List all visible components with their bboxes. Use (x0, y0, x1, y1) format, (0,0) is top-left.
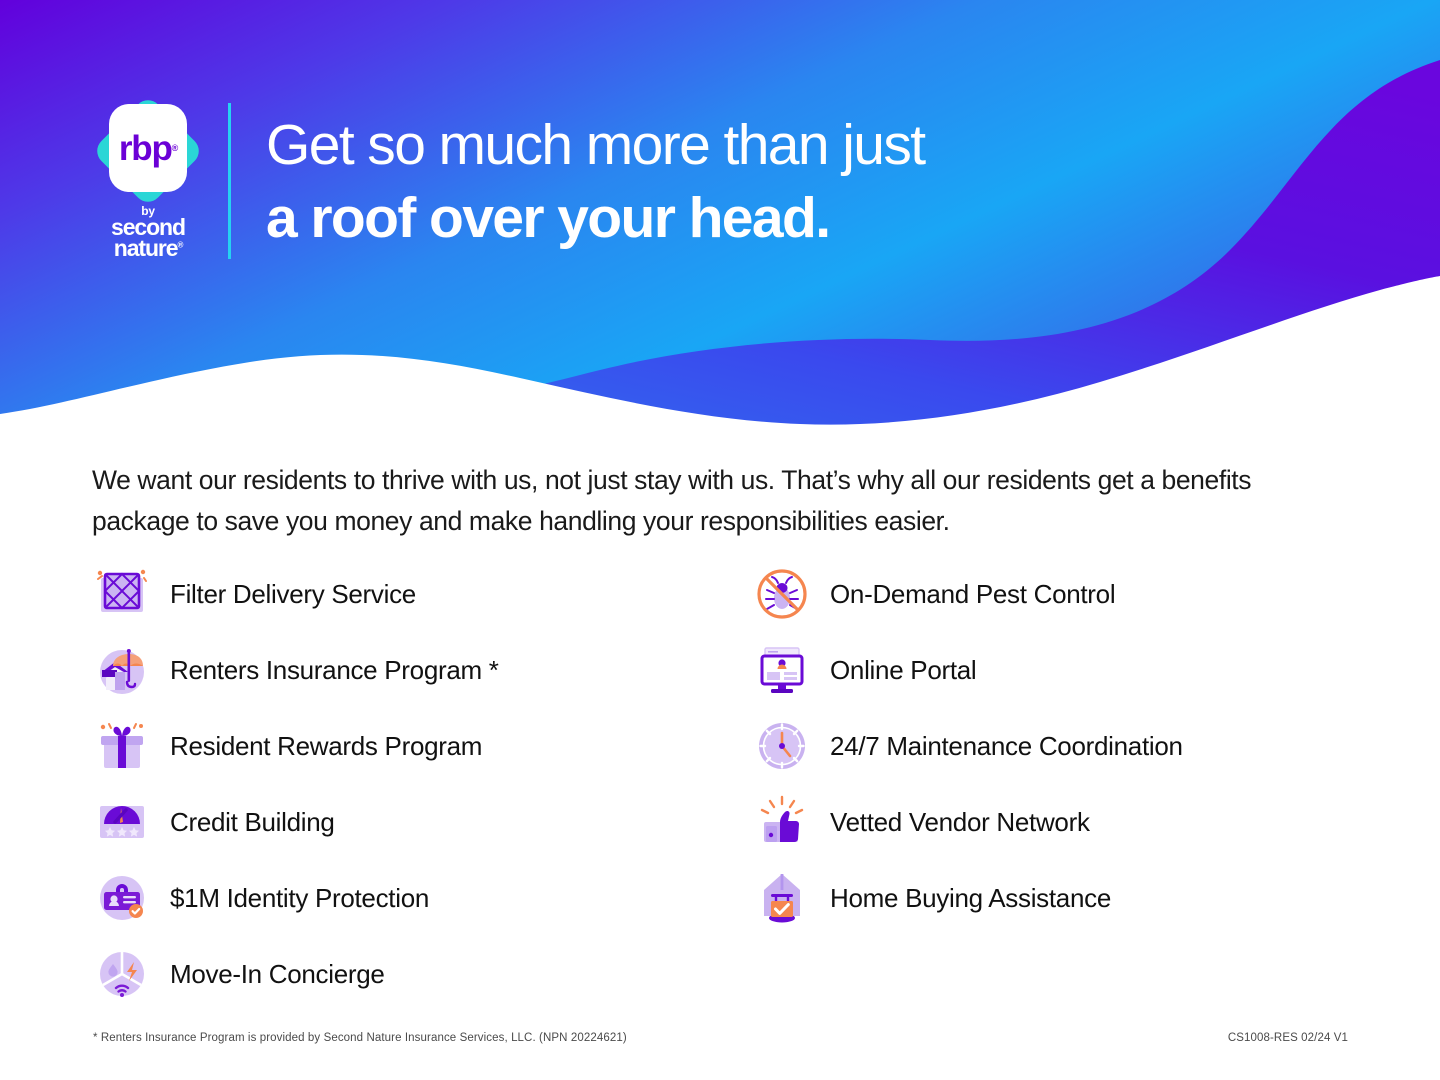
benefit-label: Resident Rewards Program (170, 731, 482, 762)
logo-rbp-label: rbp (119, 131, 172, 166)
logo-byline: by second nature® (88, 206, 208, 259)
logo-registered-icon: ® (172, 144, 177, 153)
benefit-row-online-portal: Online Portal (752, 632, 1352, 708)
thumbs-up-icon (752, 792, 812, 852)
credit-gauge-stars-icon (92, 792, 152, 852)
logo-nature-registered-icon: ® (177, 241, 182, 250)
document-code: CS1008-RES 02/24 V1 (1228, 1032, 1348, 1044)
benefit-row-resident-rewards-program: Resident Rewards Program (92, 708, 752, 784)
rbp-logo-mark: rbp® (95, 98, 201, 204)
header-banner: rbp® by second nature® Get so much more … (0, 0, 1440, 440)
air-filter-icon (92, 564, 152, 624)
benefit-label: Home Buying Assistance (830, 883, 1111, 914)
benefit-row-move-in-concierge: Move-In Concierge (92, 936, 752, 1012)
benefit-row-maintenance-coordination: 24/7 Maintenance Coordination (752, 708, 1352, 784)
headline-line-2: a roof over your head. (266, 182, 925, 254)
intro-paragraph: We want our residents to thrive with us,… (92, 460, 1317, 542)
rbp-logo: rbp® by second nature® (88, 98, 208, 258)
benefit-label: On-Demand Pest Control (830, 579, 1115, 610)
headline-line-1: Get so much more than just (266, 108, 925, 182)
benefits-column-right: On-Demand Pest Control Online Portal (752, 556, 1352, 1012)
benefits-column-left: Filter Delivery Service Renters Insuranc… (92, 556, 752, 1012)
page-headline: Get so much more than just a roof over y… (266, 108, 925, 254)
clock-icon (752, 716, 812, 776)
benefit-row-home-buying-assistance: Home Buying Assistance (752, 860, 1352, 936)
benefit-label: Credit Building (170, 807, 335, 838)
benefit-label: Online Portal (830, 655, 976, 686)
benefit-row-credit-building: Credit Building (92, 784, 752, 860)
utilities-water-power-wifi-icon (92, 944, 152, 1004)
benefit-label: Vetted Vendor Network (830, 807, 1090, 838)
umbrella-house-icon (92, 640, 152, 700)
benefit-label: Renters Insurance Program * (170, 655, 499, 686)
logo-nature-label: nature® (88, 238, 208, 259)
benefit-row-renters-insurance-program: Renters Insurance Program * (92, 632, 752, 708)
house-checkmark-icon (752, 868, 812, 928)
no-bug-icon (752, 564, 812, 624)
benefit-row-filter-delivery-service: Filter Delivery Service (92, 556, 752, 632)
footnote-text: * Renters Insurance Program is provided … (93, 1032, 627, 1044)
benefit-label: Move-In Concierge (170, 959, 385, 990)
benefit-label: 24/7 Maintenance Coordination (830, 731, 1183, 762)
gift-box-icon (92, 716, 152, 776)
benefit-label: Filter Delivery Service (170, 579, 416, 610)
benefit-label: $1M Identity Protection (170, 883, 429, 914)
benefits-list: Filter Delivery Service Renters Insuranc… (92, 556, 1352, 1012)
id-badge-lock-icon (92, 868, 152, 928)
monitor-person-icon (752, 640, 812, 700)
benefit-row-vetted-vendor-network: Vetted Vendor Network (752, 784, 1352, 860)
header-divider (228, 103, 231, 259)
logo-rbp-text: rbp® (95, 98, 201, 198)
benefit-row-identity-protection: $1M Identity Protection (92, 860, 752, 936)
benefit-row-pest-control: On-Demand Pest Control (752, 556, 1352, 632)
